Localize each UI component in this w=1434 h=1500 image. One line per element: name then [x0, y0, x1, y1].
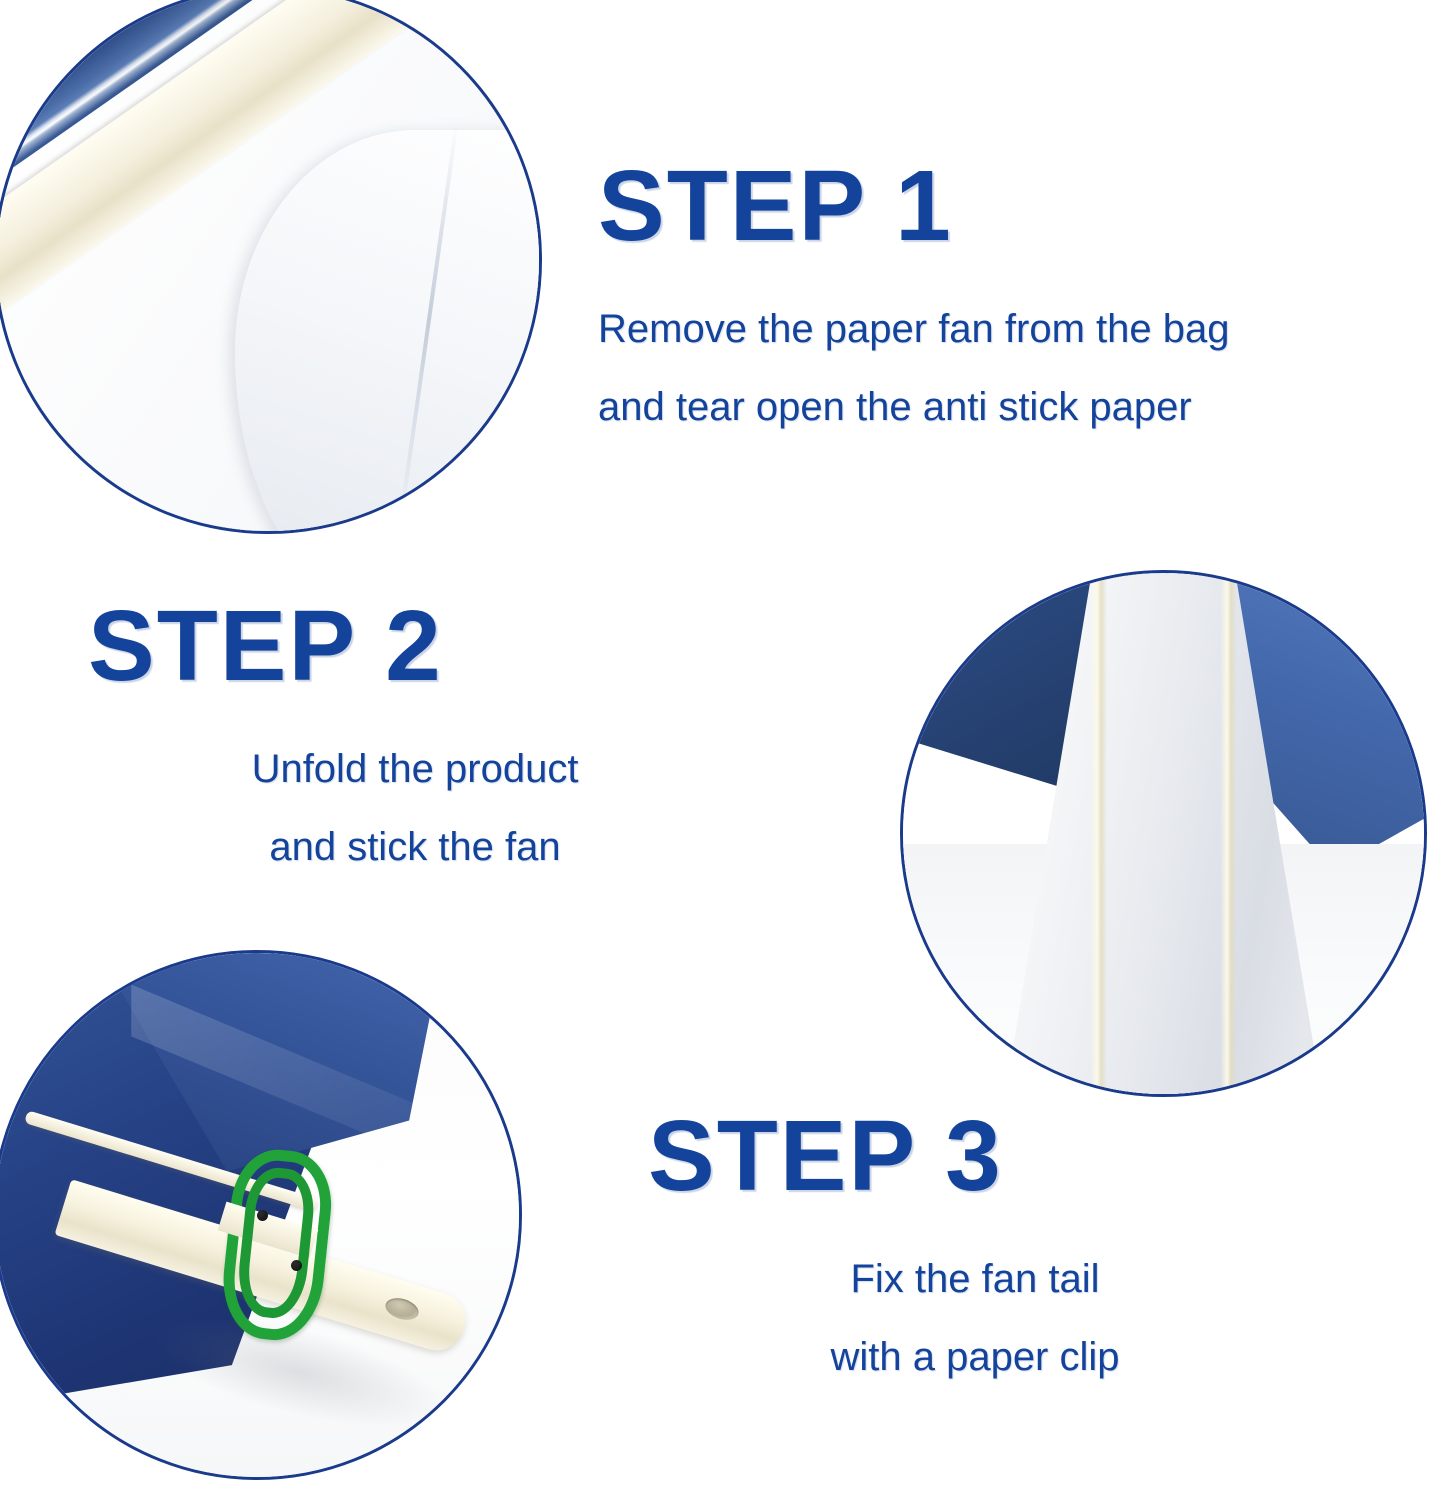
step-3-line-2: with a paper clip: [645, 1337, 1305, 1377]
step-1-line-1: Remove the paper fan from the bag: [598, 309, 1229, 349]
photo-fan-unfolded: [900, 570, 1427, 1097]
photo3-clip-tip-upper: [257, 1210, 268, 1221]
photo-fan-tail-clip-content: [0, 953, 519, 1477]
photo-fan-in-bag: [0, 0, 542, 534]
step-1-title: STEP 1: [598, 155, 1229, 257]
step-1-line-2: and tear open the anti stick paper: [598, 387, 1229, 427]
step-2-line-1: Unfold the product: [85, 749, 745, 789]
step-2-line-2: and stick the fan: [85, 827, 745, 867]
photo-fan-in-bag-content: [0, 0, 539, 531]
step-1-description: Remove the paper fan from the bag and te…: [598, 309, 1229, 427]
step-1-text-block: STEP 1 Remove the paper fan from the bag…: [598, 155, 1229, 427]
photo-fan-tail-clip: [0, 950, 522, 1480]
step-3-description: Fix the fan tail with a paper clip: [645, 1259, 1305, 1377]
step-3-text-block: STEP 3 Fix the fan tail with a paper cli…: [645, 1105, 1305, 1377]
step-2-description: Unfold the product and stick the fan: [85, 749, 745, 867]
step-2-title: STEP 2: [88, 595, 745, 697]
photo-fan-unfolded-content: [903, 573, 1424, 1094]
step-3-title: STEP 3: [648, 1105, 1305, 1207]
photo3-clip-tip-lower: [291, 1260, 302, 1271]
instruction-graphic: STEP 1 Remove the paper fan from the bag…: [0, 0, 1434, 1500]
step-3-line-1: Fix the fan tail: [645, 1259, 1305, 1299]
step-2-text-block: STEP 2 Unfold the product and stick the …: [85, 595, 745, 867]
